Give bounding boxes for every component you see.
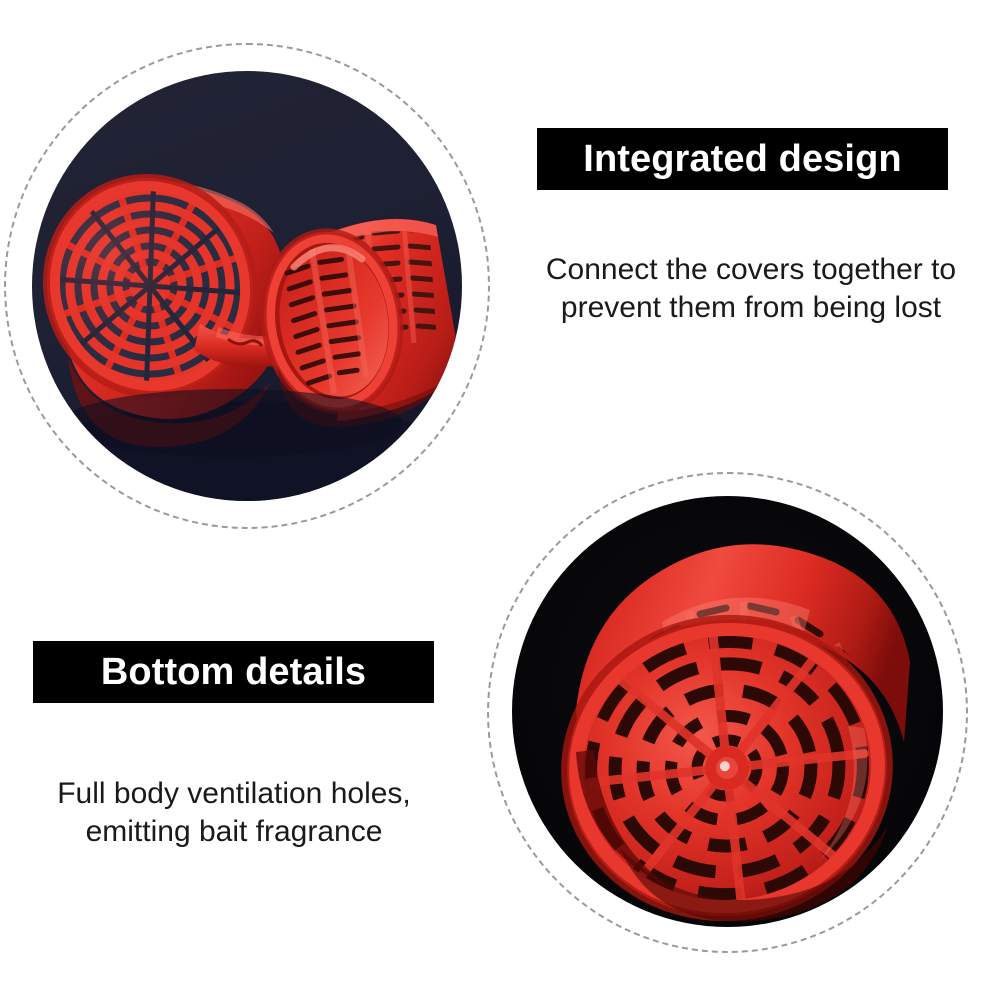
feature-photo-bottom-details [487, 472, 968, 953]
caption-line-2: prevent them from being lost [521, 289, 981, 327]
caption-line-2: emitting bait fragrance [34, 813, 434, 851]
headline-bar-integrated-design: Integrated design [537, 128, 948, 190]
photo-clip-bottom-details [512, 496, 943, 927]
illustration-cage-bottom [512, 496, 943, 927]
infographic-page: Integrated design Connect the covers tog… [0, 0, 1000, 1000]
headline-bar-bottom-details: Bottom details [33, 641, 434, 703]
feature-photo-integrated-design [4, 43, 490, 529]
illustration-connected-covers [32, 71, 462, 501]
headline-integrated-design: Integrated design [583, 140, 901, 178]
caption-line-1: Connect the covers together to [521, 251, 981, 289]
headline-bottom-details: Bottom details [101, 653, 366, 691]
caption-integrated-design: Connect the covers together to prevent t… [521, 251, 981, 327]
caption-bottom-details: Full body ventilation holes, emitting ba… [34, 775, 434, 851]
photo-clip-integrated-design [32, 71, 462, 501]
caption-line-1: Full body ventilation holes, [34, 775, 434, 813]
